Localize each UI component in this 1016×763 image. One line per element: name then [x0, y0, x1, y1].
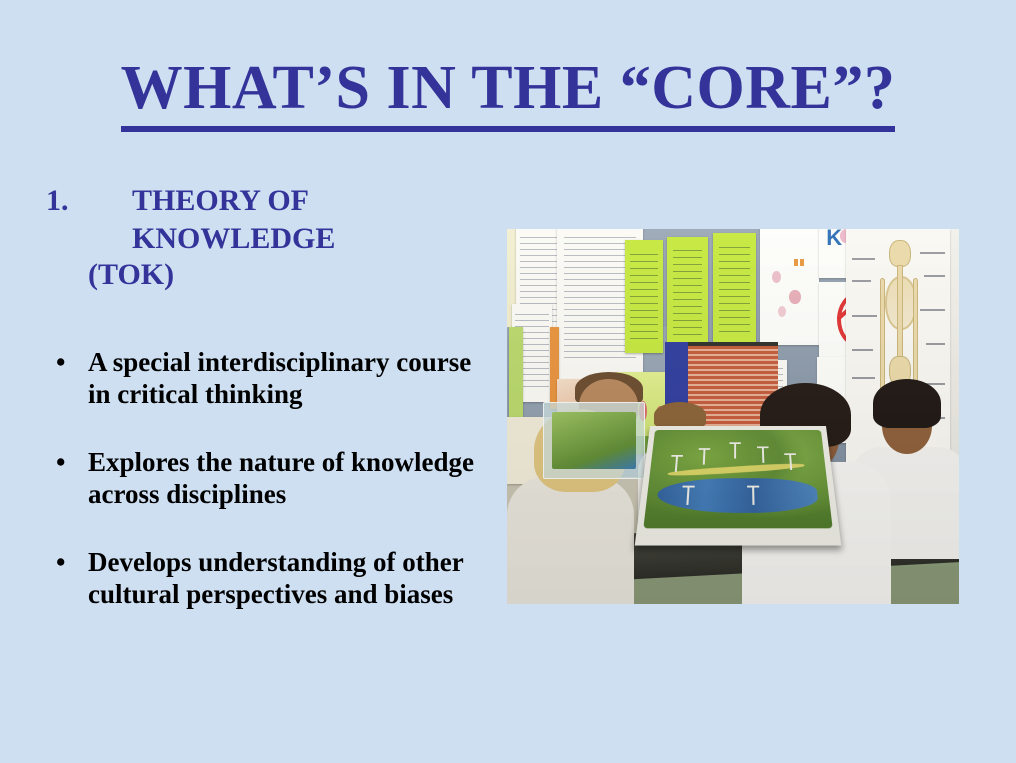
terrain-model-tray: [543, 402, 644, 479]
numbered-item-1-line1: THEORY OF: [44, 182, 496, 220]
terrain-model-tray-contents: [552, 412, 636, 469]
bullet-text: Develops understanding of other cultural…: [88, 547, 463, 609]
terrain-model-pylon: [686, 487, 689, 504]
slide: WHAT’S IN THE “CORE”? 1. THEORY OF KNOWL…: [0, 0, 1016, 763]
bullet-text: Explores the nature of knowledge across …: [88, 447, 474, 509]
classroom-students-terrain-model-photo: K: [507, 229, 959, 604]
terrain-model-pylon: [789, 455, 792, 470]
page-title: WHAT’S IN THE “CORE”?: [0, 54, 1016, 132]
skeleton-arm-icon: [913, 278, 918, 390]
chart-label-line: [852, 315, 877, 317]
numbered-item-1: 1. THEORY OF KNOWLEDGE (TOK): [44, 182, 496, 294]
body-content-column: 1. THEORY OF KNOWLEDGE (TOK) • A special…: [44, 182, 496, 610]
bullet-marker-icon: •: [56, 346, 65, 378]
chart-label-line: [852, 349, 873, 351]
photo-poster-green: [713, 233, 756, 353]
photo-canvas: K: [507, 229, 959, 604]
photo-poster-green-strip: [509, 327, 523, 417]
terrain-model-board: [634, 426, 840, 545]
chart-label-line: [852, 377, 875, 379]
photo-poster-student-art: [760, 229, 819, 345]
terrain-model-road: [667, 462, 804, 477]
photo-art-splotch: [778, 306, 786, 317]
photo-art-square: [794, 259, 798, 266]
bullet-text: A special interdisciplinary course in cr…: [88, 347, 471, 409]
photo-poster-green: [625, 240, 663, 353]
list-item: • Explores the nature of knowledge acros…: [44, 446, 496, 510]
photo-art-square: [800, 259, 804, 266]
bullet-marker-icon: •: [56, 546, 65, 578]
list-item: • A special interdisciplinary course in …: [44, 346, 496, 410]
terrain-model-pylon: [734, 444, 736, 459]
chart-label-line: [852, 280, 871, 282]
terrain-model-pylon: [761, 447, 763, 462]
terrain-model-river: [656, 478, 820, 513]
terrain-model-landscape: [643, 430, 833, 528]
student-blonde-body: [507, 477, 634, 605]
numbered-item-1-line2: KNOWLEDGE: [44, 220, 496, 258]
photo-art-splotch: [772, 271, 781, 283]
terrain-model-pylon: [752, 487, 754, 504]
skeleton-spine-icon: [897, 265, 902, 367]
student-right-hair: [873, 379, 941, 428]
bullet-list: • A special interdisciplinary course in …: [44, 346, 496, 610]
bullet-marker-icon: •: [56, 446, 65, 478]
page-title-text: WHAT’S IN THE “CORE”?: [121, 54, 896, 132]
chart-label-line: [926, 343, 945, 345]
student-middle-hair: [654, 402, 706, 428]
chart-label-line: [920, 309, 945, 311]
terrain-model-pylon: [703, 449, 706, 464]
chart-label-line: [924, 275, 945, 277]
chart-label-line: [920, 252, 945, 254]
photo-poster-green: [667, 237, 708, 353]
terrain-model-pylon: [674, 456, 677, 471]
chart-label-line: [852, 258, 875, 260]
numbered-item-1-number: 1.: [46, 182, 86, 220]
numbered-item-1-line3: (TOK): [44, 256, 496, 294]
photo-art-splotch: [789, 290, 801, 305]
list-item: • Develops understanding of other cultur…: [44, 546, 496, 610]
skeleton-arm-icon: [880, 278, 885, 390]
skeleton-skull-icon: [889, 240, 910, 267]
